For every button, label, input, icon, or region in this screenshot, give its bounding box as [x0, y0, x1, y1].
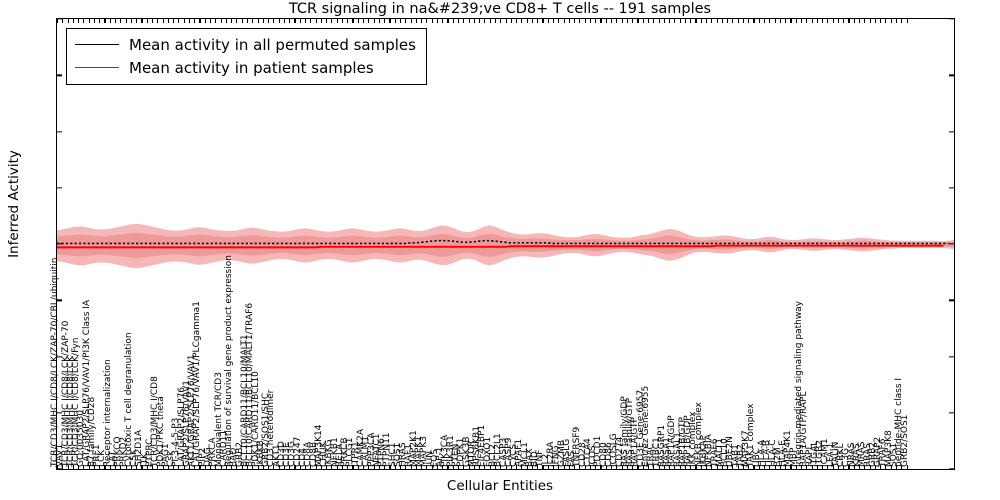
legend-label-permuted: Mean activity in all permuted samples — [129, 36, 416, 54]
x-tick-mark — [643, 19, 644, 23]
x-tick-mark — [521, 19, 522, 23]
legend-swatch-permuted — [75, 44, 119, 45]
x-tick-mark — [722, 19, 723, 23]
x-tick-mark — [347, 19, 348, 23]
x-tick-mark — [131, 19, 132, 23]
x-tick-mark — [463, 19, 464, 23]
x-tick-mark — [199, 19, 200, 23]
legend-item-patient: Mean activity in patient samples — [75, 56, 416, 79]
x-tick-mark — [753, 19, 754, 23]
x-axis-label: Cellular Entities — [0, 478, 1000, 494]
x-tick-mark — [337, 19, 338, 23]
x-tick-mark — [326, 19, 327, 23]
chart-legend: Mean activity in all permuted samples Me… — [66, 28, 427, 85]
x-tick-mark — [141, 19, 142, 23]
x-tick-mark — [542, 19, 543, 23]
y-tick-mark — [57, 243, 62, 244]
x-tick-mark — [817, 19, 818, 23]
x-tick-mark — [637, 19, 638, 23]
x-tick-mark — [885, 19, 886, 23]
x-tick-mark — [321, 19, 322, 23]
x-tick-mark — [558, 19, 559, 23]
x-tick-mark — [806, 19, 807, 23]
x-tick-mark — [875, 19, 876, 23]
x-tick-mark — [342, 19, 343, 23]
x-tick-mark — [136, 19, 137, 23]
legend-swatch-patient — [75, 67, 119, 68]
x-tick-mark — [585, 19, 586, 23]
x-tick-mark — [553, 19, 554, 23]
x-tick-mark — [458, 19, 459, 23]
x-tick-mark — [748, 19, 749, 23]
x-tick-mark — [479, 19, 480, 23]
x-tick-mark — [432, 19, 433, 23]
x-tick-mark — [616, 19, 617, 23]
x-tick-mark — [284, 19, 285, 23]
x-tick-mark — [389, 19, 390, 23]
y-tick-mark — [949, 75, 954, 76]
y-axis-label: Inferred Activity — [6, 4, 22, 404]
x-tick-mark — [648, 19, 649, 23]
x-tick-mark — [384, 19, 385, 23]
y-tick-mark — [949, 468, 954, 469]
x-tick-mark — [706, 19, 707, 23]
x-tick-mark — [664, 19, 665, 23]
x-tick-mark — [157, 19, 158, 23]
x-tick-mark — [527, 19, 528, 23]
x-tick-mark — [854, 19, 855, 23]
x-tick-mark — [848, 19, 849, 23]
x-tick-mark — [300, 19, 301, 23]
x-tick-mark — [221, 19, 222, 23]
x-tick-mark — [168, 19, 169, 23]
x-tick-mark — [564, 19, 565, 23]
x-tick-mark — [864, 19, 865, 23]
x-tick-mark — [215, 19, 216, 23]
x-tick-mark — [759, 19, 760, 23]
x-tick-mark — [152, 19, 153, 23]
y-tick-mark — [57, 75, 62, 76]
x-tick-label: Regulation of survival gene product expr… — [225, 255, 234, 467]
x-tick-mark — [126, 19, 127, 23]
x-tick-mark — [273, 19, 274, 23]
x-tick-mark — [110, 19, 111, 23]
x-tick-mark — [632, 19, 633, 23]
x-tick-mark — [62, 19, 63, 23]
y-tick-mark — [57, 131, 62, 132]
x-tick-mark — [606, 19, 607, 23]
x-tick-mark — [590, 19, 591, 23]
x-tick-label: Cytotoxic T cell degranulation — [125, 332, 134, 467]
x-tick-mark — [674, 19, 675, 23]
x-tick-mark — [115, 19, 116, 23]
x-tick-mark — [685, 19, 686, 23]
x-tick-mark — [775, 19, 776, 23]
x-tick-mark — [263, 19, 264, 23]
x-tick-mark — [532, 19, 533, 23]
x-tick-mark — [738, 19, 739, 23]
x-tick-mark — [537, 19, 538, 23]
x-tick-mark — [68, 19, 69, 23]
x-tick-mark — [374, 19, 375, 23]
x-tick-mark — [627, 19, 628, 23]
plot-axes: 43210−1−2−3−4 TCR/CD3/MHC I/CD8/LCK/ZAP-… — [56, 18, 955, 470]
x-tick-mark — [474, 19, 475, 23]
x-tick-mark — [780, 19, 781, 23]
x-tick-mark — [316, 19, 317, 23]
x-tick-mark — [695, 19, 696, 23]
x-tick-mark — [495, 19, 496, 23]
x-tick-mark — [701, 19, 702, 23]
x-tick-mark — [732, 19, 733, 23]
x-tick-mark — [178, 19, 179, 23]
x-tick-mark — [437, 19, 438, 23]
x-tick-mark — [247, 19, 248, 23]
x-tick-mark — [669, 19, 670, 23]
x-tick-mark — [516, 19, 517, 23]
x-tick-mark — [205, 19, 206, 23]
x-tick-mark — [717, 19, 718, 23]
chart-title: TCR signaling in na&#239;ve CD8+ T cells… — [0, 1, 1000, 17]
x-tick-mark — [764, 19, 765, 23]
x-tick-mark — [796, 19, 797, 23]
chart-figure: TCR signaling in na&#239;ve CD8+ T cells… — [0, 0, 1000, 500]
x-tick-mark — [827, 19, 828, 23]
x-tick-mark — [405, 19, 406, 23]
x-tick-mark — [331, 19, 332, 23]
x-tick-mark — [711, 19, 712, 23]
x-tick-mark — [368, 19, 369, 23]
y-tick-mark — [949, 131, 954, 132]
x-tick-mark — [358, 19, 359, 23]
x-tick-mark — [743, 19, 744, 23]
x-tick-label: GRB2/SOS1 — [901, 415, 910, 467]
x-tick-mark — [838, 19, 839, 23]
x-tick-mark — [226, 19, 227, 23]
x-tick-mark — [622, 19, 623, 23]
x-tick-mark — [310, 19, 311, 23]
x-tick-mark — [611, 19, 612, 23]
x-tick-mark — [426, 19, 427, 23]
x-tick-mark — [801, 19, 802, 23]
legend-item-permuted: Mean activity in all permuted samples — [75, 33, 416, 56]
x-tick-mark — [600, 19, 601, 23]
y-tick-mark — [949, 300, 954, 301]
x-tick-mark — [833, 19, 834, 23]
x-tick-mark — [896, 19, 897, 23]
y-tick-mark — [949, 243, 954, 244]
x-tick-mark — [769, 19, 770, 23]
x-tick-mark — [901, 19, 902, 23]
x-tick-mark — [659, 19, 660, 23]
x-tick-mark — [785, 19, 786, 23]
x-tick-mark — [727, 19, 728, 23]
x-tick-mark — [891, 19, 892, 23]
x-tick-mark — [595, 19, 596, 23]
x-tick-mark — [822, 19, 823, 23]
x-tick-mark — [880, 19, 881, 23]
x-tick-mark — [94, 19, 95, 23]
x-tick-mark — [104, 19, 105, 23]
y-tick-mark — [949, 187, 954, 188]
y-tick-mark — [949, 412, 954, 413]
x-tick-mark — [99, 19, 100, 23]
x-tick-mark — [790, 19, 791, 23]
x-tick-mark — [569, 19, 570, 23]
x-tick-mark — [511, 19, 512, 23]
x-tick-mark — [83, 19, 84, 23]
x-tick-mark — [189, 19, 190, 23]
x-tick-mark — [89, 19, 90, 23]
x-tick-mark — [442, 19, 443, 23]
x-tick-mark — [289, 19, 290, 23]
x-tick-mark — [279, 19, 280, 23]
x-tick-mark — [843, 19, 844, 23]
x-tick-mark — [194, 19, 195, 23]
x-tick-mark — [870, 19, 871, 23]
y-tick-mark — [57, 187, 62, 188]
x-tick-mark — [400, 19, 401, 23]
x-tick-mark — [242, 19, 243, 23]
x-tick-mark — [120, 19, 121, 23]
x-tick-mark — [57, 19, 58, 23]
x-tick-mark — [379, 19, 380, 23]
y-tick-mark — [949, 356, 954, 357]
x-tick-mark — [859, 19, 860, 23]
x-tick-mark — [258, 19, 259, 23]
y-tick-mark — [949, 18, 954, 19]
x-tick-mark — [73, 19, 74, 23]
x-tick-mark — [574, 19, 575, 23]
x-tick-mark — [252, 19, 253, 23]
legend-label-patient: Mean activity in patient samples — [129, 59, 374, 77]
x-tick-mark — [231, 19, 232, 23]
x-tick-mark — [352, 19, 353, 23]
x-tick-label: LAT/GRAP2/SLP76/VAV1/PLCgamma1 — [193, 301, 202, 467]
x-tick-mark — [680, 19, 681, 23]
x-tick-mark — [411, 19, 412, 23]
x-tick-mark — [416, 19, 417, 23]
x-tick-mark — [163, 19, 164, 23]
x-tick-mark — [690, 19, 691, 23]
x-tick-mark — [147, 19, 148, 23]
x-tick-mark — [236, 19, 237, 23]
x-tick-mark — [500, 19, 501, 23]
x-tick-mark — [490, 19, 491, 23]
x-tick-mark — [453, 19, 454, 23]
x-tick-mark — [484, 19, 485, 23]
x-tick-mark — [421, 19, 422, 23]
x-tick-mark — [363, 19, 364, 23]
x-tick-mark — [548, 19, 549, 23]
x-tick-mark — [653, 19, 654, 23]
x-tick-mark — [305, 19, 306, 23]
x-tick-mark — [184, 19, 185, 23]
x-tick-mark — [210, 19, 211, 23]
x-tick-mark — [78, 19, 79, 23]
x-tick-mark — [579, 19, 580, 23]
x-tick-mark — [268, 19, 269, 23]
x-tick-mark — [173, 19, 174, 23]
x-tick-mark — [506, 19, 507, 23]
x-tick-label: TCR/CD3/MHC I/CD8/LCK/ZAP-70/CBL/ubiquit… — [51, 258, 60, 467]
x-tick-mark — [907, 19, 908, 23]
x-tick-mark — [469, 19, 470, 23]
x-tick-mark — [812, 19, 813, 23]
x-tick-mark — [294, 19, 295, 23]
x-tick-mark — [447, 19, 448, 23]
x-tick-mark — [395, 19, 396, 23]
